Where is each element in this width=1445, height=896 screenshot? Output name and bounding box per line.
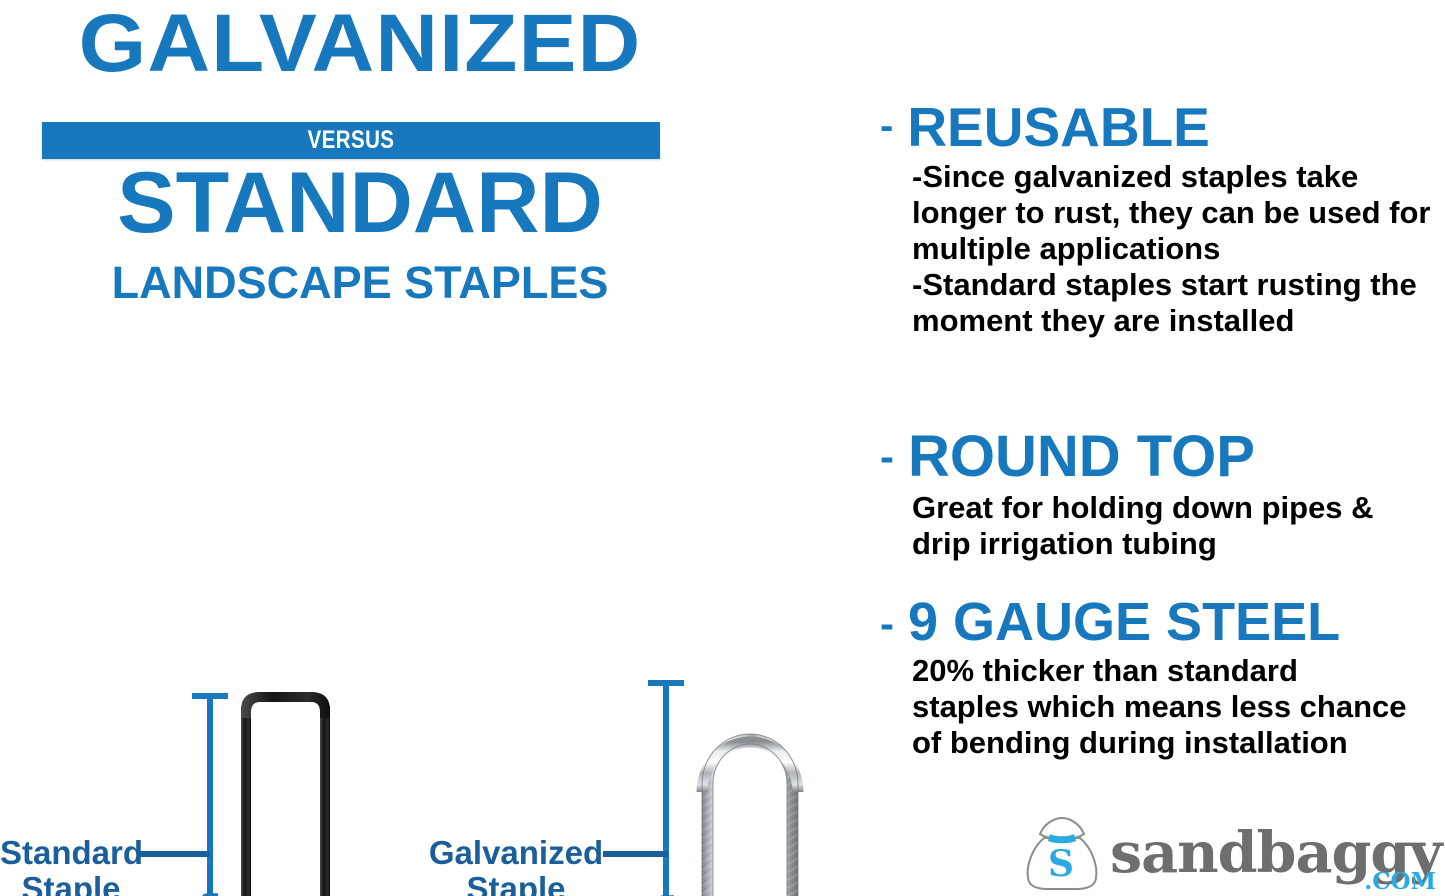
sandbaggy-logo: S sandbaggy .COM <box>1018 812 1438 894</box>
page-subtitle: LANDSCAPE STAPLES <box>0 257 720 309</box>
galvanized-part-label-line1: Galvanized <box>429 834 603 871</box>
galvanized-staple-diagram: 6 in Galvanized Staple <box>420 330 870 896</box>
sandbag-icon-letter: S <box>1048 843 1074 885</box>
standard-part-label: Standard Staple <box>0 835 142 896</box>
page-title-galvanized: GALVANIZED <box>0 2 742 86</box>
sandbag-icon: S <box>1018 814 1104 892</box>
galvanized-staple-graphic <box>694 680 904 896</box>
standard-part-label-line1: Standard <box>0 834 143 871</box>
feature-round-top-bullet: - <box>880 428 908 478</box>
title-block: GALVANIZED VERSUS STANDARD LANDSCAPE STA… <box>0 0 720 330</box>
feature-round-top-heading: ROUND TOP <box>908 428 1255 486</box>
standard-leader-line <box>140 851 210 857</box>
feature-reusable: - REUSABLE -Since galvanized staples tak… <box>880 100 1440 339</box>
standard-dim-line <box>207 693 213 896</box>
galvanized-part-label: Galvanized Staple <box>426 835 606 896</box>
feature-round-top-body: Great for holding down pipes & drip irri… <box>912 490 1437 562</box>
standard-staple-graphic <box>232 688 432 896</box>
feature-reusable-heading: REUSABLE <box>907 100 1210 155</box>
feature-reusable-bullet: - <box>880 100 907 146</box>
feature-reusable-body: -Since galvanized staples take longer to… <box>912 159 1437 339</box>
feature-9-gauge-steel-bullet: - <box>880 595 908 645</box>
galvanized-leader-line <box>603 851 668 857</box>
galvanized-dim-line <box>663 680 669 896</box>
page-title-standard: STANDARD <box>0 160 727 248</box>
logo-tld: .COM <box>1364 868 1436 895</box>
standard-part-label-line2: Staple <box>21 870 120 896</box>
feature-round-top: - ROUND TOP Great for holding down pipes… <box>880 428 1440 562</box>
galvanized-height-label: 6 in <box>646 890 682 896</box>
infographic-page: GALVANIZED VERSUS STANDARD LANDSCAPE STA… <box>0 0 1445 896</box>
galvanized-part-label-line2: Staple <box>466 870 565 896</box>
versus-label: VERSUS <box>98 122 605 159</box>
feature-9-gauge-steel-body: 20% thicker than standard staples which … <box>912 653 1412 761</box>
feature-9-gauge-steel: - 9 GAUGE STEEL 20% thicker than standar… <box>880 595 1445 761</box>
feature-9-gauge-steel-heading: 9 GAUGE STEEL <box>908 595 1340 649</box>
standard-staple-diagram: 6 in Standard Staple <box>0 330 430 896</box>
standard-height-label: 6 in <box>190 888 226 896</box>
